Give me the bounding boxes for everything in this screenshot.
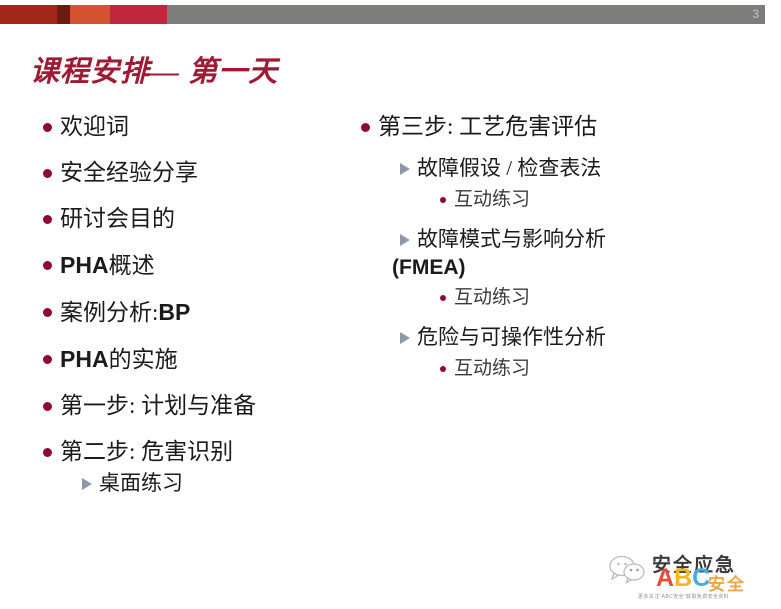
agenda-right-column: 第三步: 工艺危害评估 故障假设 / 检查表法 互动练习 故障模式与影响分析 (… bbox=[352, 112, 692, 390]
detail-list-item-label: 互动练习 bbox=[454, 356, 530, 382]
sub-list-item-label: 故障假设 / 检查表法 bbox=[417, 154, 601, 183]
bullet-arrow-icon bbox=[392, 225, 417, 254]
watermark-fine-print: 更多关注“ABC安全”获取免费安全资料 bbox=[638, 593, 729, 600]
list-item-label: 安全经验分享 bbox=[60, 158, 198, 188]
watermark-sub-brand: 安全 bbox=[708, 570, 746, 595]
page-number: 3 bbox=[752, 5, 759, 24]
sub-list-item: 桌面练习 bbox=[74, 469, 334, 498]
bullet-dot-icon bbox=[352, 112, 378, 142]
sub-list-item-label: 危险与可操作性分析 bbox=[417, 323, 606, 352]
top-bar-band-crimson bbox=[110, 5, 167, 24]
list-item: PHA概述 bbox=[34, 250, 334, 281]
bullet-dot-icon bbox=[34, 391, 60, 421]
detail-list-item-label: 互动练习 bbox=[454, 285, 530, 311]
bullet-dot-icon bbox=[34, 250, 60, 280]
list-item: 案例分析:BP bbox=[34, 297, 334, 328]
sub-list-item-label: 故障模式与影响分析 bbox=[417, 225, 606, 254]
list-item-label: 案例分析:BP bbox=[60, 297, 190, 328]
list-item-label: 第一步: 计划与准备 bbox=[60, 391, 256, 421]
detail-list-item: 互动练习 bbox=[432, 356, 692, 382]
agenda-group: 故障模式与影响分析 (FMEA) 互动练习 bbox=[352, 225, 692, 311]
bullet-dot-small-icon bbox=[432, 285, 454, 311]
bullet-dot-small-icon bbox=[432, 356, 454, 382]
agenda-group: 危险与可操作性分析 互动练习 bbox=[352, 323, 692, 382]
list-item-bold-part: PHA bbox=[60, 346, 109, 372]
list-item: 安全经验分享 bbox=[34, 158, 334, 188]
list-item: 第一步: 计划与准备 bbox=[34, 391, 334, 421]
bullet-arrow-icon bbox=[392, 323, 417, 352]
list-item-label: 研讨会目的 bbox=[60, 204, 175, 234]
sub-list-item-wrapped-label: (FMEA) bbox=[392, 254, 692, 281]
slide-title: 课程安排— 第一天 bbox=[30, 48, 278, 90]
sub-list-item: 故障假设 / 检查表法 bbox=[392, 154, 692, 183]
list-item-label: PHA概述 bbox=[60, 250, 155, 281]
list-item-plain-part: 概述 bbox=[109, 253, 155, 278]
list-item: 欢迎词 bbox=[34, 112, 334, 142]
top-bar-band-gray bbox=[167, 5, 765, 24]
watermark-abc-letters: ABC bbox=[656, 564, 710, 593]
bullet-arrow-icon bbox=[392, 154, 417, 183]
agenda-left-column: 欢迎词 安全经验分享 研讨会目的 PHA概述 案例分析:BP PHA的实施 第一… bbox=[34, 112, 334, 502]
bullet-dot-icon bbox=[34, 437, 60, 467]
sub-list-item: 故障模式与影响分析 bbox=[392, 225, 692, 254]
bullet-dot-small-icon bbox=[432, 187, 454, 213]
letter-a: A bbox=[656, 564, 674, 592]
list-item: PHA的实施 bbox=[34, 344, 334, 375]
list-item-label: PHA的实施 bbox=[60, 344, 178, 375]
list-item-bold-part: BP bbox=[158, 299, 190, 325]
slide-content: 欢迎词 安全经验分享 研讨会目的 PHA概述 案例分析:BP PHA的实施 第一… bbox=[0, 112, 781, 532]
list-item: 研讨会目的 bbox=[34, 204, 334, 234]
bullet-dot-icon bbox=[34, 112, 60, 142]
wechat-watermark: 安全应急 ABC 安全 更多关注“ABC安全”获取免费安全资料 bbox=[600, 548, 775, 606]
list-item-bold-part: PHA bbox=[60, 252, 109, 278]
sub-list-item-label: 桌面练习 bbox=[99, 469, 183, 498]
detail-list-item: 互动练习 bbox=[432, 285, 692, 311]
top-bar-band-deep-red bbox=[57, 5, 70, 24]
list-item-plain-part: 的实施 bbox=[109, 347, 178, 372]
bullet-dot-icon bbox=[34, 344, 60, 374]
sub-list-item: 危险与可操作性分析 bbox=[392, 323, 692, 352]
wechat-logo-icon bbox=[608, 554, 648, 584]
bullet-dot-icon bbox=[34, 297, 60, 327]
top-bar-band-dark-red bbox=[0, 5, 57, 24]
list-item-label: 欢迎词 bbox=[60, 112, 129, 142]
detail-list-item-label: 互动练习 bbox=[454, 187, 530, 213]
list-item: 第二步: 危害识别 bbox=[34, 437, 334, 467]
list-item-label: 第二步: 危害识别 bbox=[60, 437, 233, 467]
list-item-plain-part: 案例分析: bbox=[60, 300, 158, 325]
letter-b: B bbox=[674, 564, 692, 592]
agenda-group: 故障假设 / 检查表法 互动练习 bbox=[352, 154, 692, 213]
list-item: 第三步: 工艺危害评估 bbox=[352, 112, 692, 142]
bullet-dot-icon bbox=[34, 204, 60, 234]
decorative-top-bar bbox=[0, 5, 765, 24]
detail-list-item: 互动练习 bbox=[432, 187, 692, 213]
bullet-arrow-icon bbox=[74, 469, 99, 498]
list-item-label: 第三步: 工艺危害评估 bbox=[378, 112, 597, 142]
top-bar-band-orange-red bbox=[70, 5, 110, 24]
bullet-dot-icon bbox=[34, 158, 60, 188]
